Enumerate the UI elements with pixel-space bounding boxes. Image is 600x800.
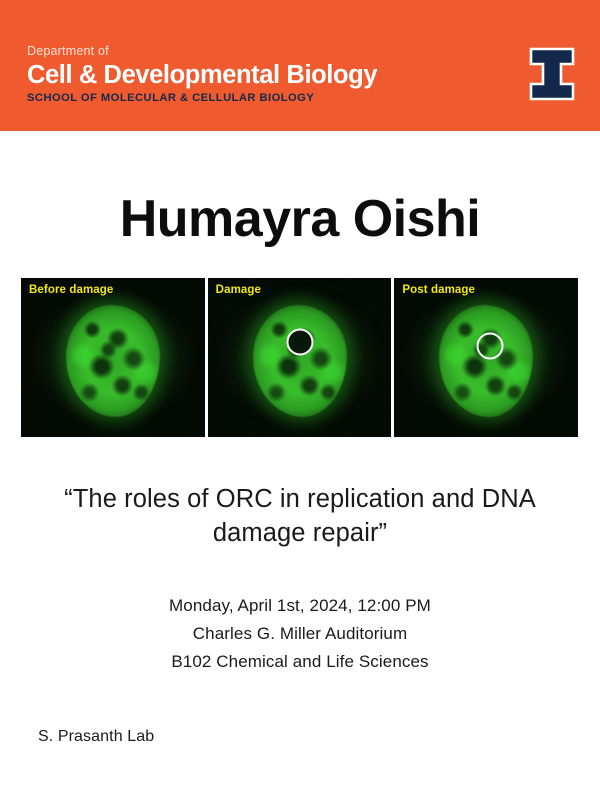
microscopy-panel-post-damage: Post damage bbox=[394, 278, 578, 437]
event-venue: Charles G. Miller Auditorium bbox=[0, 620, 600, 648]
header-text-block: Department of Cell & Developmental Biolo… bbox=[27, 44, 377, 105]
damage-region-circle-icon bbox=[476, 333, 503, 360]
microscopy-panel-before-damage: Before damage bbox=[21, 278, 205, 437]
department-name: Cell & Developmental Biology bbox=[27, 60, 377, 90]
panel-label-damage: Damage bbox=[216, 283, 261, 297]
department-prefix: Department of bbox=[27, 44, 377, 59]
speaker-name: Humayra Oishi bbox=[0, 188, 600, 250]
event-details: Monday, April 1st, 2024, 12:00 PM Charle… bbox=[0, 592, 600, 676]
microscopy-panel-damage: Damage bbox=[208, 278, 392, 437]
event-building: B102 Chemical and Life Sciences bbox=[0, 648, 600, 676]
microscopy-figure: Before damage Damage Post damage bbox=[21, 278, 578, 437]
header-banner: Department of Cell & Developmental Biolo… bbox=[0, 0, 600, 131]
event-datetime: Monday, April 1st, 2024, 12:00 PM bbox=[0, 592, 600, 620]
block-i-logo-icon bbox=[529, 47, 575, 101]
talk-title: “The roles of ORC in replication and DNA… bbox=[40, 482, 560, 550]
damage-region-circle-icon bbox=[286, 328, 313, 355]
school-name: SCHOOL OF MOLECULAR & CELLULAR BIOLOGY bbox=[27, 91, 377, 105]
lab-credit: S. Prasanth Lab bbox=[38, 727, 154, 747]
panel-label-post-damage: Post damage bbox=[402, 283, 475, 297]
panel-label-before-damage: Before damage bbox=[29, 283, 113, 297]
